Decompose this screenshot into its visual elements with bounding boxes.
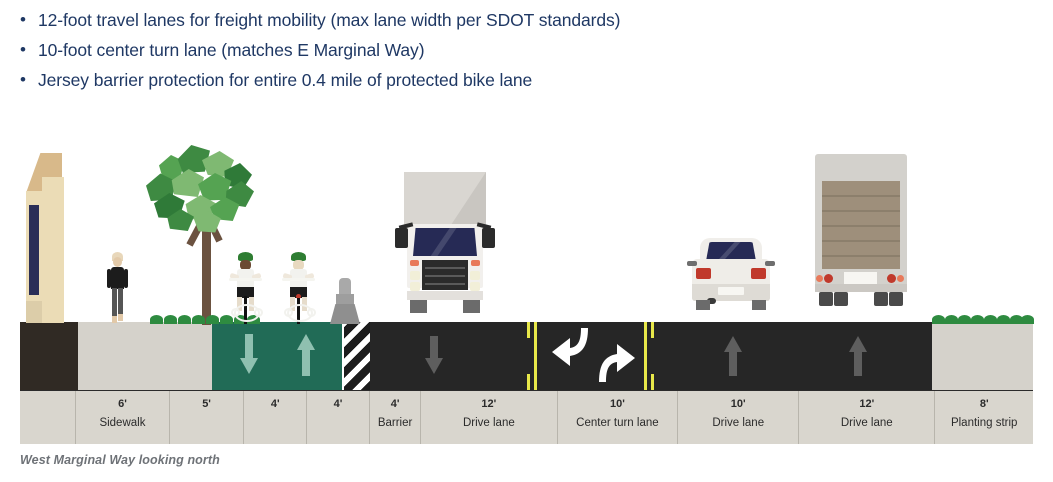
label-cell-drive-lane-2: 10' Drive lane [678, 391, 799, 444]
trailer-taillight-left [824, 274, 833, 283]
trailer-wheel-4 [889, 292, 903, 306]
trailer-taillight-right [887, 274, 896, 283]
trailer-marker-left [816, 275, 823, 282]
truck-headlight-right-2 [470, 282, 480, 291]
label-name: Drive lane [841, 415, 893, 431]
center-turn-right-arrow-icon [593, 340, 639, 384]
bullet-marker-icon: • [0, 38, 38, 62]
semi-trailer-truck [795, 154, 925, 324]
jersey-barrier [330, 278, 360, 324]
label-feet: 4' [391, 397, 400, 411]
truck-marker-light-left [410, 260, 419, 266]
pedestrian-head [113, 257, 122, 267]
passenger-car [676, 236, 786, 324]
bullet-text: 12-foot travel lanes for freight mobilit… [38, 8, 620, 32]
label-name: Planting strip [951, 415, 1017, 431]
label-feet: 4' [271, 397, 280, 411]
label-name: Drive lane [463, 415, 515, 431]
barrier-bottom [330, 304, 360, 324]
label-cell-building [20, 391, 76, 444]
bullet-text: 10-foot center turn lane (matches E Marg… [38, 38, 424, 62]
center-turn-yellow-line-right-bottom [651, 374, 654, 390]
trailer-underside [815, 284, 907, 292]
trailer-wheel-3 [874, 292, 888, 306]
trailer-wheel-2 [834, 292, 848, 306]
bullet-item: • 12-foot travel lanes for freight mobil… [0, 8, 1053, 32]
drive-lane-3-up-arrow-icon [849, 336, 867, 376]
pedestrian-leg-left [112, 288, 117, 318]
pedestrian-arm-right [124, 269, 128, 288]
center-turn-left-arrow-icon [548, 326, 594, 370]
label-cell-planting-left: 5' [170, 391, 244, 444]
pedestrian-foot [112, 316, 117, 323]
label-feet: 12' [859, 397, 874, 411]
box-truck [390, 172, 500, 324]
center-turn-yellow-line-left-top [527, 322, 530, 338]
label-cell-barrier: 4' Barrier [370, 391, 421, 444]
label-name: Drive lane [712, 415, 764, 431]
pedestrian-walking [104, 252, 130, 324]
segment-planting-strip-right [932, 322, 1033, 390]
pedestrian-foot-2 [118, 314, 123, 321]
tree-canopy [140, 145, 260, 231]
center-turn-yellow-line-right-top [651, 322, 654, 338]
label-name: Sidewalk [99, 415, 145, 431]
pedestrian-leg-right [118, 288, 123, 316]
truck-wheel-left [410, 300, 427, 313]
label-feet: 10' [610, 397, 625, 411]
bicycle-handlebar [282, 278, 315, 281]
building-wall-right [42, 177, 64, 323]
label-feet: 10' [731, 397, 746, 411]
label-cell-center-turn-lane: 10' Center turn lane [558, 391, 679, 444]
building [20, 153, 80, 323]
cyclist-southbound [225, 252, 265, 324]
truck-bumper [407, 291, 483, 300]
car-taillight-right [751, 268, 766, 279]
bullet-item: • Jersey barrier protection for entire 0… [0, 68, 1053, 92]
building-window [29, 205, 39, 295]
car-wheel-left [696, 300, 710, 310]
car-license-plate [718, 287, 744, 295]
truck-marker-light-right [471, 260, 480, 266]
label-cell-sidewalk: 6' Sidewalk [76, 391, 170, 444]
label-cell-planting-strip: 8' Planting strip [935, 391, 1033, 444]
car-mirror-right [765, 261, 775, 266]
bullet-text: Jersey barrier protection for entire 0.4… [38, 68, 532, 92]
figure-caption: West Marginal Way looking north [20, 453, 220, 467]
label-cell-drive-lane-3: 12' Drive lane [799, 391, 935, 444]
bicycle-handlebar [229, 278, 262, 281]
building-wall-shade [26, 301, 42, 323]
slide-page: • 12-foot travel lanes for freight mobil… [0, 0, 1053, 482]
car-taillight-left [696, 268, 711, 279]
trailer-marker-right [897, 275, 904, 282]
truck-headlight-right [470, 271, 480, 280]
center-turn-yellow-line-left-outer [534, 322, 537, 390]
pedestrian-torso [111, 267, 124, 289]
label-name: Center turn lane [576, 415, 658, 431]
car-mirror-left [687, 261, 697, 266]
label-feet: 8' [980, 397, 989, 411]
segment-bike-lane [212, 322, 342, 390]
bullet-marker-icon: • [0, 8, 38, 32]
segment-planting-strip-left [175, 322, 212, 390]
building-base [20, 322, 78, 390]
segment-sidewalk [78, 322, 175, 390]
bullet-marker-icon: • [0, 68, 38, 92]
label-cell-bike-lane-1: 4' [244, 391, 307, 444]
label-cell-bike-lane-2: 4' [307, 391, 370, 444]
label-cell-drive-lane-1: 12' Drive lane [421, 391, 557, 444]
truck-headlight-left-2 [410, 282, 420, 291]
bike-lane-up-arrow-icon [297, 334, 315, 376]
center-turn-yellow-line-left-bottom [527, 374, 530, 390]
truck-wheel-right [463, 300, 480, 313]
truck-mirror-right [482, 228, 495, 248]
truck-headlight-left [410, 271, 420, 280]
car-wheel-right [752, 300, 766, 310]
drive-lane-2-up-arrow-icon [724, 336, 742, 376]
trailer-wheel-1 [819, 292, 833, 306]
label-feet: 5' [202, 397, 211, 411]
truck-mirror-left [395, 228, 408, 248]
bullet-list: • 12-foot travel lanes for freight mobil… [0, 0, 1053, 98]
label-feet: 4' [334, 397, 343, 411]
drive-lane-1-down-arrow-icon [425, 336, 443, 376]
label-feet: 12' [481, 397, 496, 411]
label-feet: 6' [118, 397, 127, 411]
pedestrian-arm-left [107, 269, 111, 288]
center-turn-yellow-line-right-outer [644, 322, 647, 390]
cyclist-northbound [278, 252, 318, 324]
planting-strip-shrubs [932, 315, 1033, 324]
bullet-item: • 10-foot center turn lane (matches E Ma… [0, 38, 1053, 62]
bike-lane-down-arrow-icon [240, 334, 258, 376]
label-name: Barrier [378, 415, 413, 431]
cross-section-illustration [20, 145, 1033, 390]
dimension-label-strip: 6' Sidewalk 5' 4' 4' 4' Barrier 12' Driv… [20, 390, 1033, 444]
